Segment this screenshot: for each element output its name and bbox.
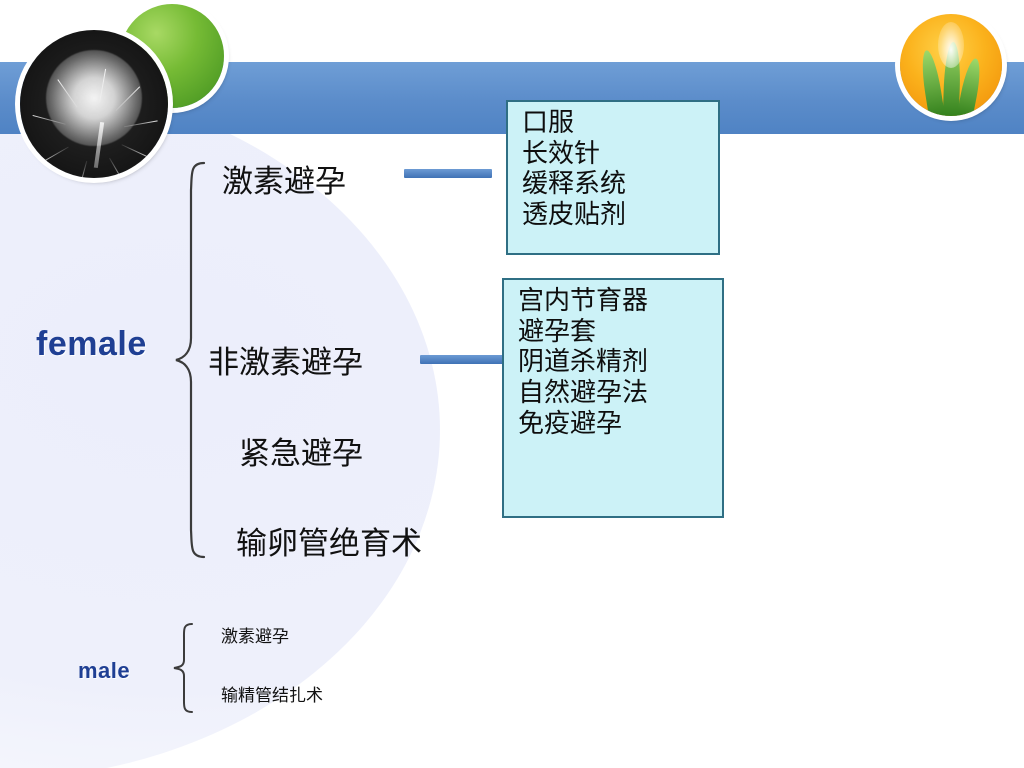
- dandelion-photo: [20, 30, 168, 178]
- non-hormonal-line: 阴道杀精剂: [518, 347, 712, 378]
- connector-bar-non-hormonal: [420, 355, 504, 364]
- hormonal-line: 透皮贴剂: [522, 200, 708, 231]
- hormonal-line: 口服: [522, 108, 708, 139]
- background-arc-decoration: [0, 80, 440, 768]
- tulip-highlight: [938, 22, 964, 68]
- tulip-photo: [900, 14, 1002, 116]
- female-item-non-hormonal: 非激素避孕: [208, 337, 363, 382]
- hormonal-line: 缓释系统: [522, 169, 708, 200]
- female-item-hormonal: 激素避孕: [222, 156, 346, 201]
- male-item-vasectomy: 输精管结扎术: [221, 681, 323, 706]
- connector-bar-hormonal: [404, 169, 492, 178]
- non-hormonal-line: 自然避孕法: [518, 378, 712, 409]
- female-item-tubal-sterilization: 输卵管绝育术: [236, 518, 422, 563]
- group-label-male: male: [78, 658, 130, 684]
- non-hormonal-methods-box: 宫内节育器 避孕套 阴道杀精剂 自然避孕法 免疫避孕: [502, 278, 724, 518]
- non-hormonal-line: 避孕套: [518, 317, 712, 348]
- tulip-leaf: [956, 57, 984, 116]
- non-hormonal-line: 宫内节育器: [518, 286, 712, 317]
- male-brace: [170, 622, 196, 714]
- hormonal-methods-box: 口服 长效针 缓释系统 透皮贴剂: [506, 100, 720, 255]
- hormonal-line: 长效针: [522, 139, 708, 170]
- female-item-emergency: 紧急避孕: [239, 428, 363, 473]
- male-item-hormonal: 激素避孕: [221, 622, 289, 647]
- group-label-female: female: [36, 325, 147, 364]
- non-hormonal-line: 免疫避孕: [518, 409, 712, 440]
- slide-canvas: female 激素避孕 非激素避孕 紧急避孕 输卵管绝育术 口服 长效针 缓释系…: [0, 0, 1024, 768]
- female-brace: [170, 160, 210, 560]
